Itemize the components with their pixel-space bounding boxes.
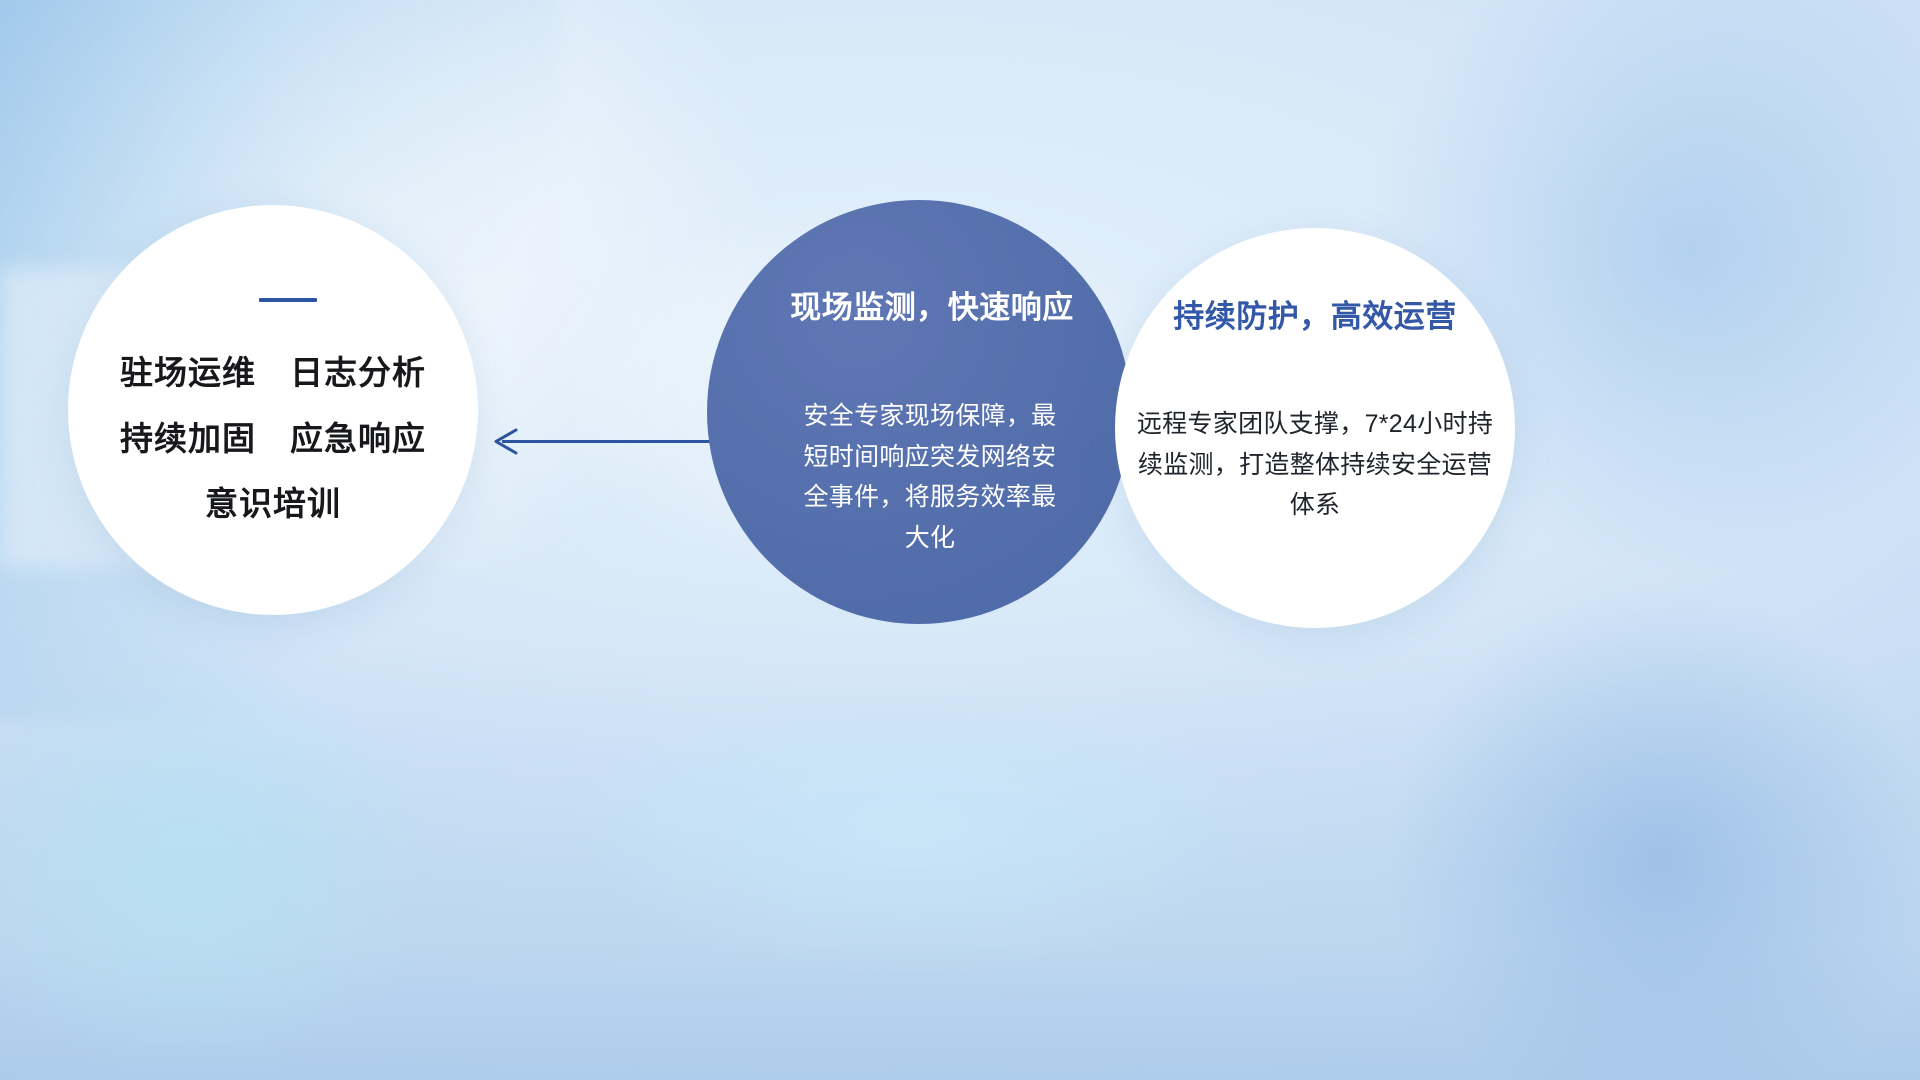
right-operations-circle[interactable]: 持续防护，高效运营 远程专家团队支撑，7*24小时持续监测，打造整体持续安全运营… bbox=[1115, 228, 1515, 628]
left-circle-line-1: 驻场运维 日志分析 bbox=[120, 356, 426, 391]
dash-accent-icon bbox=[259, 298, 317, 302]
background-cyan-bottom bbox=[420, 620, 1400, 1040]
middle-circle-content: 现场监测，快速响应 安全专家现场保障，最短时间响应突发网络安全事件，将服务效率最… bbox=[707, 200, 1131, 624]
right-circle-content: 持续防护，高效运营 远程专家团队支撑，7*24小时持续监测，打造整体持续安全运营… bbox=[1115, 228, 1515, 628]
middle-onsite-circle[interactable]: 现场监测，快速响应 安全专家现场保障，最短时间响应突发网络安全事件，将服务效率最… bbox=[707, 200, 1131, 624]
right-circle-title: 持续防护，高效运营 bbox=[1173, 291, 1457, 336]
middle-circle-body: 安全专家现场保障，最短时间响应突发网络安全事件，将服务效率最大化 bbox=[799, 396, 1061, 558]
middle-circle-title: 现场监测，快速响应 bbox=[790, 282, 1074, 327]
left-circle-line-3: 意识培训 bbox=[205, 487, 341, 522]
left-circle-content: 驻场运维 日志分析 持续加固 应急响应 意识培训 bbox=[68, 205, 478, 615]
right-circle-body: 远程专家团队支撑，7*24小时持续监测，打造整体持续安全运营体系 bbox=[1131, 404, 1499, 526]
left-pointing-arrow-icon bbox=[480, 420, 725, 464]
slide-canvas: 驻场运维 日志分析 持续加固 应急响应 意识培训 现场监测，快速响应 安全专家现… bbox=[0, 0, 1920, 1080]
left-circle-line-2: 持续加固 应急响应 bbox=[120, 422, 426, 457]
left-capability-circle[interactable]: 驻场运维 日志分析 持续加固 应急响应 意识培训 bbox=[68, 205, 478, 615]
